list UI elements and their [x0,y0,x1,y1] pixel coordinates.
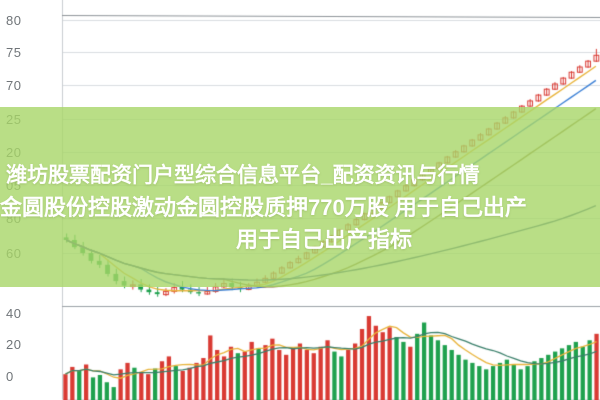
y-axis-tick: 05 [6,179,50,192]
y-axis-tick: 60 [6,247,50,260]
y-axis-tick: 20 [6,146,50,159]
y-axis-tick: 75 [6,46,50,59]
y-axis-tick: 20 [6,338,50,351]
y-axis-tick: 80 [6,14,50,27]
y-axis: 807570252005806040200 [0,0,62,400]
stock-chart-canvas[interactable] [0,0,600,400]
y-axis-tick: 70 [6,79,50,92]
y-axis-tick: 0 [6,370,50,383]
y-axis-tick: 25 [6,113,50,126]
y-axis-tick: 40 [6,307,50,320]
screenshot-root: 807570252005806040200 潍坊股票配资门户型综合信息平台_配资… [0,0,600,400]
y-axis-tick: 80 [6,212,50,225]
